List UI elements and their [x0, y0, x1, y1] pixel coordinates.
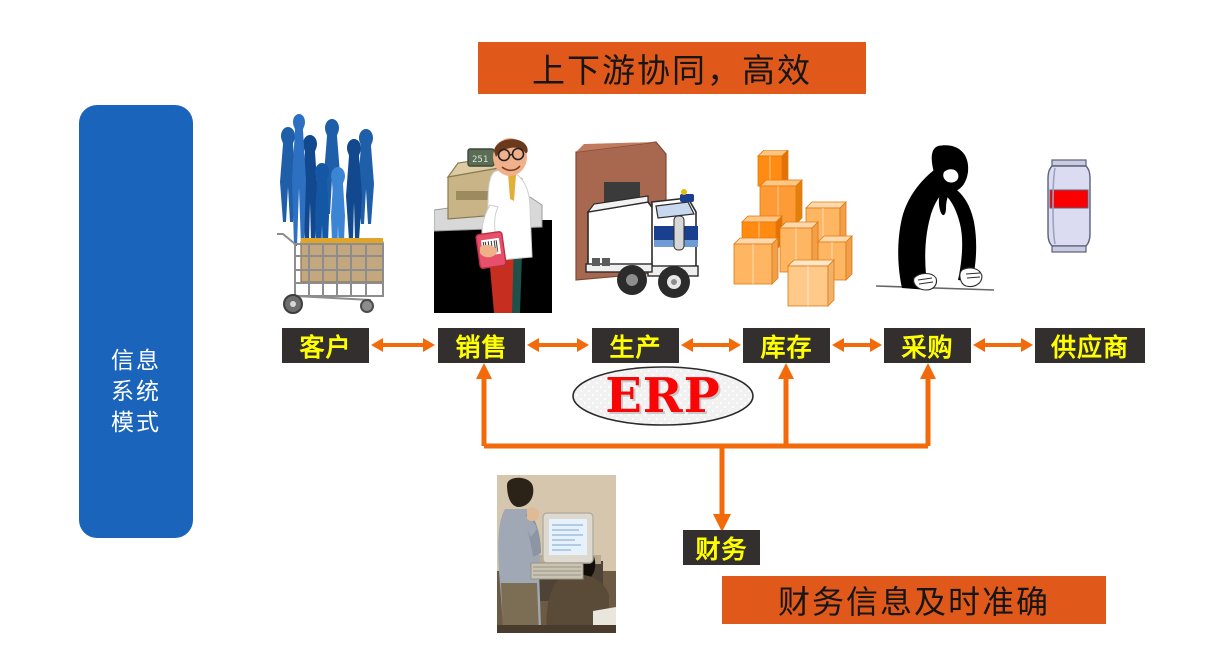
sidebar-line-1: 信息	[111, 346, 161, 377]
double-arrow-customer-to-sales	[371, 338, 435, 352]
slide-canvas: 上下游协同，高效 信息 系统 模式	[0, 0, 1205, 671]
chain-node-label: 采购	[901, 328, 953, 364]
double-arrow-production-to-inventory	[681, 338, 741, 352]
beverage-can-image	[1044, 156, 1094, 256]
double-arrow-purchasing-to-supplier	[973, 338, 1033, 352]
sidebar-line-2: 系统	[111, 377, 161, 408]
chain-node-label: 库存	[760, 328, 812, 364]
crt-monitor	[543, 513, 593, 563]
top-banner-upstream-downstream-synergy: 上下游协同，高效	[478, 42, 866, 94]
stacked-cartons-image	[730, 150, 855, 312]
svg-text:251: 251	[472, 155, 488, 165]
double-arrow-inventory-to-purchasing	[832, 338, 882, 352]
chain-node-purchasing[interactable]: 采购	[884, 328, 971, 363]
chain-node-label: 生产	[609, 328, 661, 364]
person-on-phone-silhouette	[876, 140, 994, 315]
crowd-with-shopping-cart-image	[263, 114, 388, 314]
cashier-at-register-image: 251	[434, 135, 552, 313]
truck-body	[586, 189, 698, 298]
carton	[734, 238, 778, 284]
chain-node-label: 财务	[695, 530, 747, 566]
chain-node-finance[interactable]: 财务	[683, 530, 760, 565]
chain-node-customer[interactable]: 客户	[282, 328, 369, 363]
arrowhead-up-inventory	[778, 363, 794, 379]
two-people-at-computer-photo	[497, 475, 616, 633]
arrowhead-up-purchasing	[920, 363, 936, 379]
chain-node-label: 客户	[299, 328, 351, 364]
chain-node-label: 供应商	[1051, 328, 1129, 364]
sidebar-line-3: 模式	[111, 408, 161, 439]
chain-node-supplier[interactable]: 供应商	[1035, 328, 1145, 363]
erp-oval-shape	[571, 365, 755, 427]
chain-node-label: 销售	[455, 328, 507, 364]
carton	[788, 260, 834, 306]
delivery-truck-at-dock-image	[570, 140, 700, 312]
arrowhead-up-sales	[476, 363, 492, 379]
double-arrow-sales-to-production	[527, 338, 589, 352]
chain-node-production[interactable]: 生产	[592, 328, 679, 363]
chain-node-inventory[interactable]: 库存	[743, 328, 830, 363]
bottom-banner-financial-info-timely-accurate: 财务信息及时准确	[722, 576, 1106, 624]
chain-node-sales[interactable]: 销售	[438, 328, 525, 363]
sidebar-information-system-mode: 信息 系统 模式	[79, 105, 193, 538]
shopping-cart-with-boxes	[277, 234, 383, 313]
